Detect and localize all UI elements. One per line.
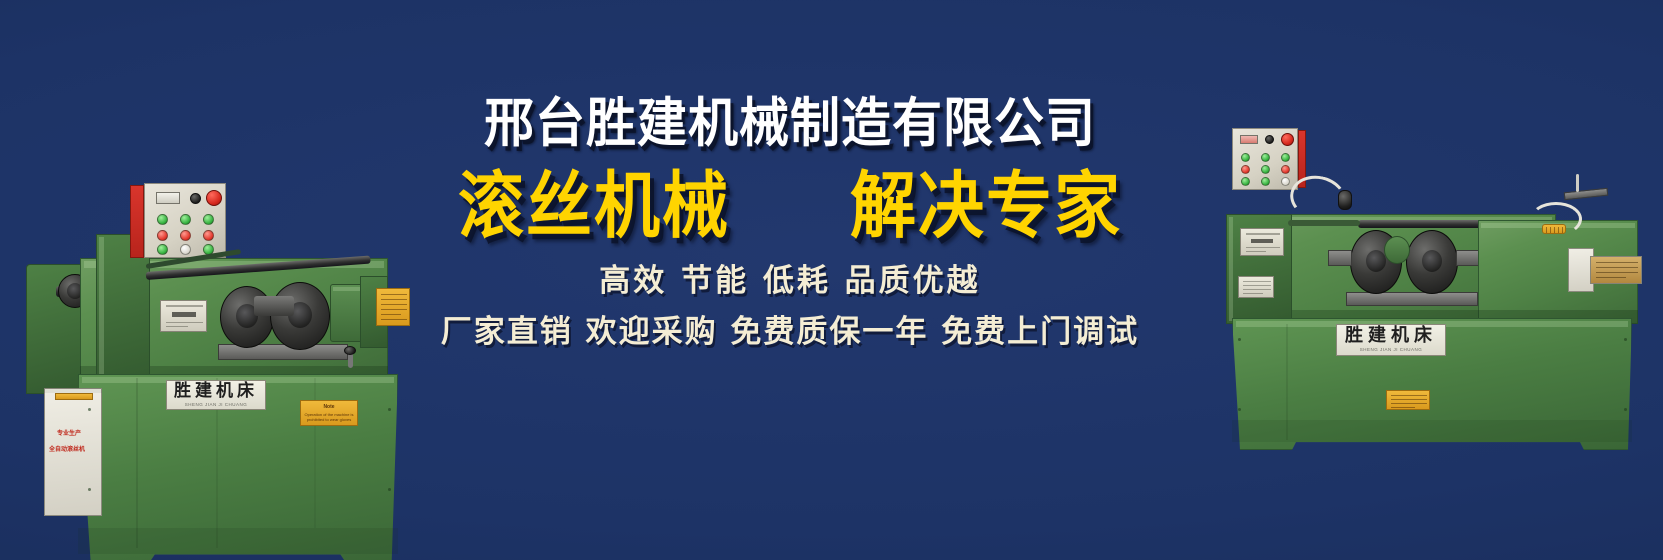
- headline-left-text: 滚丝机械: [458, 171, 730, 244]
- warning-label-left-text: Operation of the machine is prohibited t…: [303, 412, 355, 422]
- spec-plate-right: [1240, 228, 1284, 256]
- tagline-services: 厂家直销 欢迎采购 免费质保一年 免费上门调试: [441, 317, 1139, 348]
- control-panel-left-side: [130, 185, 144, 258]
- spec-label-right-left-machine: [376, 288, 410, 326]
- nameplate-right: 胜建机床 SHENG JIAN JI CHUANG: [1336, 324, 1446, 356]
- emergency-stop-button-right[interactable]: [1281, 133, 1294, 146]
- nameplate-left-en: SHENG JIAN JI CHUANG: [185, 403, 248, 408]
- emergency-stop-button-left[interactable]: [206, 190, 222, 206]
- side-cabinet-left: 专业生产 全自动滚丝机: [44, 388, 102, 516]
- control-panel-left[interactable]: [144, 183, 226, 258]
- warning-label-right: [1386, 390, 1430, 410]
- nameplate-right-en: SHENG JIAN JI CHUANG: [1360, 348, 1423, 353]
- spec-plate-left: [160, 300, 207, 332]
- company-name: 邢台胜建机械制造有限公司: [484, 97, 1096, 150]
- control-panel-right[interactable]: [1232, 128, 1298, 190]
- main-headline: 滚丝机械 解决专家: [458, 174, 1122, 240]
- banner-text-block: 邢台胜建机械制造有限公司 滚丝机械 解决专家 高效 节能 低耗 品质优越 厂家直…: [380, 0, 1200, 560]
- machine-right-image: 胜建机床 SHENG JIAN JI CHUANG: [1178, 128, 1648, 450]
- cabinet-text-1: 专业生产: [57, 431, 81, 437]
- headline-right-text: 解决专家: [850, 171, 1122, 244]
- cabinet-text-2: 全自动滚丝机: [49, 447, 85, 453]
- nameplate-left: 胜建机床 SHENG JIAN JI CHUANG: [166, 380, 266, 410]
- warning-label-left-title: Note: [323, 404, 334, 410]
- nameplate-right-cn: 胜建机床: [1345, 327, 1437, 345]
- promo-banner: 胜建机床 SHENG JIAN JI CHUANG Note Operation…: [0, 0, 1663, 560]
- nameplate-left-cn: 胜建机床: [174, 383, 258, 400]
- tagline-features: 高效 节能 低耗 品质优越: [599, 266, 980, 297]
- machine-left-image: 胜建机床 SHENG JIAN JI CHUANG Note Operation…: [18, 88, 428, 480]
- warning-label-left: Note Operation of the machine is prohibi…: [300, 400, 358, 426]
